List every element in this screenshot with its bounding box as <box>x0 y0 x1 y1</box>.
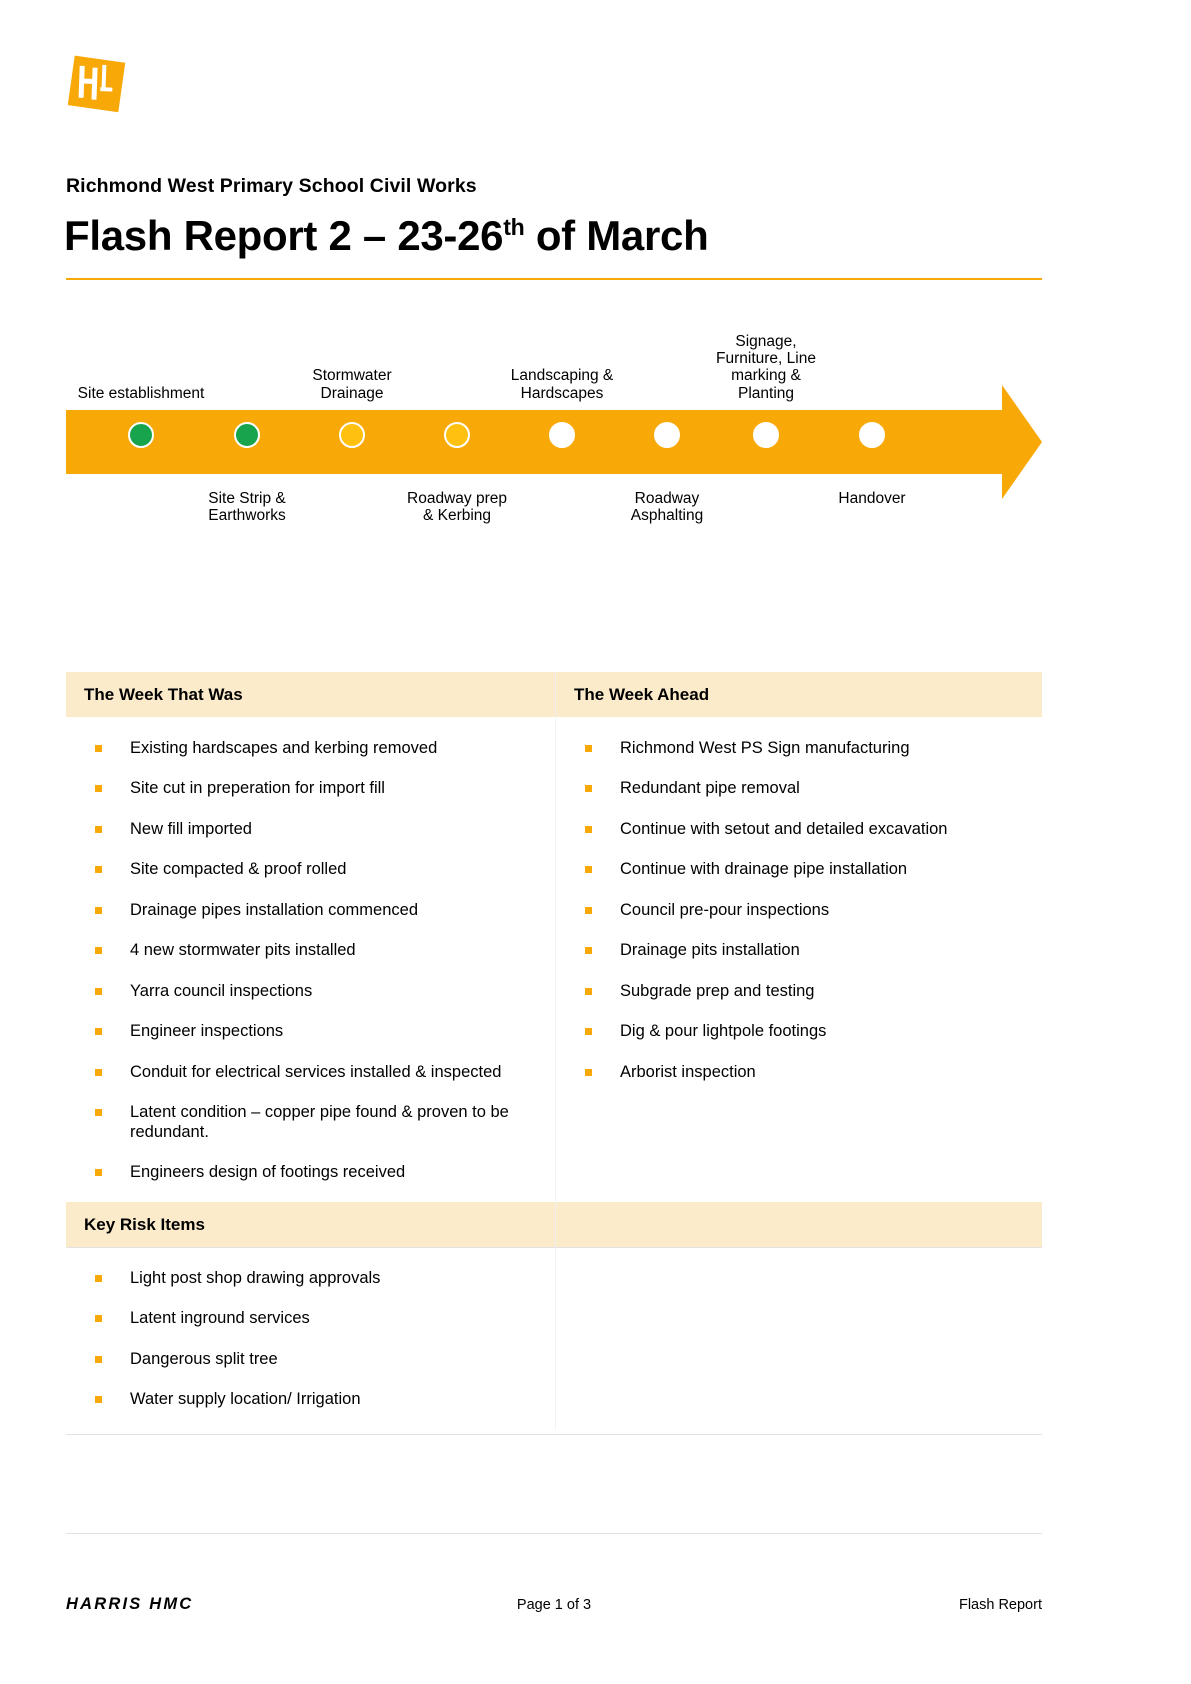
bullet-square-icon <box>585 785 592 792</box>
page-title-tail: of March <box>524 212 708 259</box>
list-item: Dig & pour lightpole footings <box>570 1022 1028 1041</box>
list-item-label: Water supply location/ Irrigation <box>130 1390 361 1408</box>
timeline-node-3[interactable] <box>444 422 470 448</box>
bullet-square-icon <box>95 947 102 954</box>
project-timeline: Site establishmentSite Strip & Earthwork… <box>66 320 1042 550</box>
bullet-square-icon <box>95 988 102 995</box>
bullet-square-icon <box>585 1069 592 1076</box>
list-item-label: Yarra council inspections <box>130 982 312 1000</box>
bullet-square-icon <box>95 1315 102 1322</box>
timeline-node-1[interactable] <box>234 422 260 448</box>
bullet-square-icon <box>95 826 102 833</box>
footer-page-number: Page 1 of 3 <box>388 1597 720 1613</box>
list-item-label: Dangerous split tree <box>130 1350 278 1368</box>
bullet-square-icon <box>95 745 102 752</box>
list-item-label: Subgrade prep and testing <box>620 982 814 1000</box>
list-item-label: Light post shop drawing approvals <box>130 1269 380 1287</box>
timeline-label-7: Handover <box>838 490 905 507</box>
page-title-main: Flash Report 2 – 23-26 <box>64 212 503 259</box>
list-item-label: Arborist inspection <box>620 1063 756 1081</box>
list-item: Dangerous split tree <box>80 1350 541 1369</box>
list-item: Engineers design of footings received <box>80 1163 541 1182</box>
list-item-label: Engineer inspections <box>130 1022 283 1040</box>
timeline-label-5: Roadway Asphalting <box>631 490 703 525</box>
list-item: Yarra council inspections <box>80 982 541 1001</box>
list-item: Continue with setout and detailed excava… <box>570 820 1028 839</box>
section-panel-1: Key Risk ItemsLight post shop drawing ap… <box>66 1202 1042 1435</box>
list-item: Continue with drainage pipe installation <box>570 860 1028 879</box>
section-column-right: Richmond West PS Sign manufacturingRedun… <box>555 717 1042 1243</box>
section-header-row: Key Risk Items <box>66 1202 1042 1247</box>
list-item: Redundant pipe removal <box>570 779 1028 798</box>
list-item: Drainage pits installation <box>570 941 1028 960</box>
list-item-label: Site compacted & proof rolled <box>130 860 346 878</box>
timeline-node-7[interactable] <box>859 422 885 448</box>
bullet-square-icon <box>585 1028 592 1035</box>
bullet-square-icon <box>585 988 592 995</box>
bullet-square-icon <box>585 866 592 873</box>
section-heading-right: The Week Ahead <box>555 672 1042 717</box>
footer-divider <box>66 1533 1042 1534</box>
list-item: Engineer inspections <box>80 1022 541 1041</box>
list-item: Latent inground services <box>80 1309 541 1328</box>
list-item: Richmond West PS Sign manufacturing <box>570 739 1028 758</box>
section-body-row: Light post shop drawing approvalsLatent … <box>66 1247 1042 1430</box>
list-item-label: Continue with setout and detailed excava… <box>620 820 947 838</box>
section-column-left: Light post shop drawing approvalsLatent … <box>66 1247 555 1430</box>
list-item: Subgrade prep and testing <box>570 982 1028 1001</box>
list-item-label: Dig & pour lightpole footings <box>620 1022 826 1040</box>
bullet-square-icon <box>95 1356 102 1363</box>
list-item-label: Site cut in preperation for import fill <box>130 779 385 797</box>
footer-brand: HARRIS HMC <box>66 1595 388 1614</box>
timeline-label-0: Site establishment <box>78 385 205 402</box>
list-item-label: Continue with drainage pipe installation <box>620 860 907 878</box>
bullet-square-icon <box>95 1275 102 1282</box>
list-item: Latent condition – copper pipe found & p… <box>80 1103 541 1142</box>
bullet-list: Light post shop drawing approvalsLatent … <box>80 1269 541 1410</box>
bullet-square-icon <box>95 907 102 914</box>
harris-hmc-logo-icon <box>68 55 126 113</box>
bullet-square-icon <box>585 745 592 752</box>
list-item-label: Drainage pipes installation commenced <box>130 901 418 919</box>
section-heading-left: The Week That Was <box>66 672 555 717</box>
bullet-square-icon <box>585 947 592 954</box>
list-item: Conduit for electrical services installe… <box>80 1063 541 1082</box>
section-body-row: Existing hardscapes and kerbing removedS… <box>66 717 1042 1243</box>
bullet-square-icon <box>95 1396 102 1403</box>
list-item: Site cut in preperation for import fill <box>80 779 541 798</box>
list-item: Drainage pipes installation commenced <box>80 901 541 920</box>
list-item: Council pre-pour inspections <box>570 901 1028 920</box>
list-item: Water supply location/ Irrigation <box>80 1390 541 1409</box>
list-item: Light post shop drawing approvals <box>80 1269 541 1288</box>
project-subtitle: Richmond West Primary School Civil Works <box>66 175 477 198</box>
bullet-square-icon <box>95 866 102 873</box>
bullet-square-icon <box>95 1109 102 1116</box>
footer-doc-type: Flash Report <box>720 1597 1042 1613</box>
list-item-label: New fill imported <box>130 820 252 838</box>
timeline-label-1: Site Strip & Earthworks <box>208 490 286 525</box>
list-item-label: Engineers design of footings received <box>130 1163 405 1181</box>
list-item-label: Drainage pits installation <box>620 941 800 959</box>
page-title-ordinal: th <box>503 214 524 240</box>
list-item: 4 new stormwater pits installed <box>80 941 541 960</box>
section-column-left: Existing hardscapes and kerbing removedS… <box>66 717 555 1243</box>
section-bottom-divider <box>66 1434 1042 1435</box>
list-item: Site compacted & proof rolled <box>80 860 541 879</box>
page-title: Flash Report 2 – 23-26th of March <box>64 212 708 260</box>
bullet-square-icon <box>585 826 592 833</box>
timeline-node-6[interactable] <box>753 422 779 448</box>
bullet-square-icon <box>95 1028 102 1035</box>
list-item-label: Latent inground services <box>130 1309 310 1327</box>
bullet-square-icon <box>95 1169 102 1176</box>
section-heading-left: Key Risk Items <box>66 1202 555 1247</box>
bullet-square-icon <box>95 1069 102 1076</box>
timeline-label-6: Signage, Furniture, Line marking & Plant… <box>716 333 816 402</box>
document-page: Richmond West Primary School Civil Works… <box>0 0 1191 1684</box>
timeline-label-4: Landscaping & Hardscapes <box>511 367 614 402</box>
bullet-square-icon <box>95 785 102 792</box>
bullet-list: Richmond West PS Sign manufacturingRedun… <box>570 739 1028 1082</box>
title-divider <box>66 278 1042 280</box>
list-item-label: Conduit for electrical services installe… <box>130 1063 501 1081</box>
page-footer: HARRIS HMC Page 1 of 3 Flash Report <box>66 1595 1042 1614</box>
timeline-label-3: Roadway prep & Kerbing <box>407 490 507 525</box>
timeline-node-2[interactable] <box>339 422 365 448</box>
bullet-square-icon <box>585 907 592 914</box>
list-item-label: Council pre-pour inspections <box>620 901 829 919</box>
section-header-row: The Week That WasThe Week Ahead <box>66 672 1042 717</box>
list-item-label: Latent condition – copper pipe found & p… <box>130 1103 509 1140</box>
timeline-node-4[interactable] <box>549 422 575 448</box>
list-item: Existing hardscapes and kerbing removed <box>80 739 541 758</box>
section-heading-right <box>555 1202 1042 1247</box>
list-item-label: Richmond West PS Sign manufacturing <box>620 739 910 757</box>
timeline-node-5[interactable] <box>654 422 680 448</box>
bullet-list: Existing hardscapes and kerbing removedS… <box>80 739 541 1223</box>
timeline-arrow-head-icon <box>1002 385 1042 499</box>
timeline-node-0[interactable] <box>128 422 154 448</box>
list-item-label: Redundant pipe removal <box>620 779 800 797</box>
list-item: Arborist inspection <box>570 1063 1028 1082</box>
list-item-label: Existing hardscapes and kerbing removed <box>130 739 437 757</box>
list-item: New fill imported <box>80 820 541 839</box>
timeline-label-2: Stormwater Drainage <box>312 367 391 402</box>
list-item-label: 4 new stormwater pits installed <box>130 941 356 959</box>
section-column-right <box>555 1247 1042 1430</box>
section-panel-0: The Week That WasThe Week AheadExisting … <box>66 672 1042 1248</box>
